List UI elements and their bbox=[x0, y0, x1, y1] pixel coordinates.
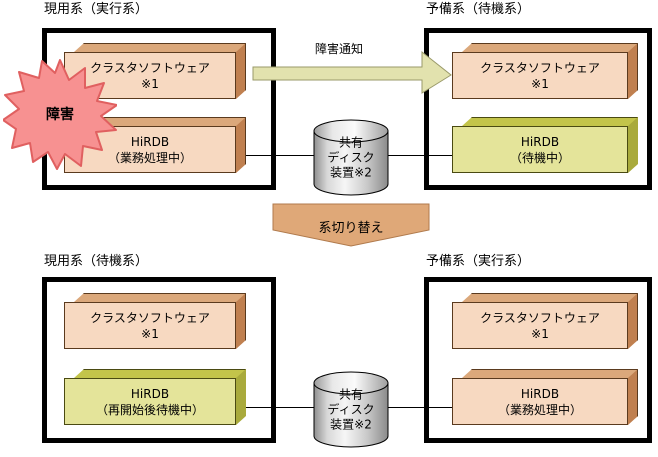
box-top-face bbox=[462, 43, 638, 52]
box-side-face bbox=[236, 369, 246, 425]
top-right-cluster-software-box: クラスタソフトウェア ※1 bbox=[452, 43, 638, 99]
box-label-line1: HiRDB bbox=[131, 134, 169, 150]
box-top-face bbox=[74, 369, 246, 378]
bottom-left-disk-connector bbox=[246, 407, 314, 408]
disk-cylinder-icon bbox=[313, 371, 389, 448]
box-side-face bbox=[236, 293, 246, 349]
box-label-line2: ※1 bbox=[141, 76, 159, 92]
box-label-line1: HiRDB bbox=[521, 386, 559, 402]
failover-diagram: 現用系（実行系） クラスタソフトウェア ※1 HiRDB （業務処理中） 予備系… bbox=[0, 0, 658, 457]
arrow-right-icon bbox=[252, 50, 452, 94]
box-side-face bbox=[236, 117, 246, 173]
top-right-disk-connector bbox=[388, 155, 452, 156]
failure-label: 障害 bbox=[3, 104, 117, 124]
box-front-face: HiRDB （業務処理中） bbox=[452, 378, 628, 425]
box-front-face: クラスタソフトウェア ※1 bbox=[452, 52, 628, 99]
box-label-line2: ※1 bbox=[531, 76, 549, 92]
switch-over-arrow: 系切り替え bbox=[272, 203, 430, 247]
bottom-right-system-label: 予備系（実行系） bbox=[426, 255, 530, 269]
box-side-face bbox=[628, 117, 638, 173]
box-front-face: HiRDB （待機中） bbox=[452, 126, 628, 173]
failure-starburst: 障害 bbox=[3, 58, 117, 170]
bottom-left-hirdb-box: HiRDB （再開始後待機中） bbox=[64, 369, 246, 425]
box-side-face bbox=[628, 43, 638, 99]
box-top-face bbox=[74, 293, 246, 302]
switch-over-label: 系切り替え bbox=[272, 217, 430, 236]
box-side-face bbox=[628, 369, 638, 425]
bottom-right-cluster-software-box: クラスタソフトウェア ※1 bbox=[452, 293, 638, 349]
box-top-face bbox=[462, 293, 638, 302]
bottom-right-hirdb-box: HiRDB （業務処理中） bbox=[452, 369, 638, 425]
box-front-face: クラスタソフトウェア ※1 bbox=[452, 302, 628, 349]
box-label-line1: クラスタソフトウェア bbox=[90, 310, 210, 326]
box-front-face: HiRDB （再開始後待機中） bbox=[64, 378, 236, 425]
bottom-left-cluster-software-box: クラスタソフトウェア ※1 bbox=[64, 293, 246, 349]
top-left-disk-connector bbox=[246, 155, 314, 156]
notify-arrow bbox=[252, 50, 452, 94]
top-right-system-label: 予備系（待機系） bbox=[426, 3, 530, 17]
box-label-line1: HiRDB bbox=[521, 134, 559, 150]
box-label-line2: （待機中） bbox=[510, 150, 570, 166]
box-label-line1: クラスタソフトウェア bbox=[480, 60, 600, 76]
box-top-face bbox=[74, 43, 246, 52]
top-left-system-label: 現用系（実行系） bbox=[44, 3, 148, 17]
box-front-face: クラスタソフトウェア ※1 bbox=[64, 302, 236, 349]
box-side-face bbox=[236, 43, 246, 99]
box-label-line1: クラスタソフトウェア bbox=[480, 310, 600, 326]
box-side-face bbox=[628, 293, 638, 349]
disk-cylinder-icon bbox=[313, 119, 389, 196]
bottom-shared-disk: 共有 ディスク 装置※2 bbox=[313, 371, 389, 448]
bottom-left-system-label: 現用系（待機系） bbox=[44, 255, 148, 269]
top-shared-disk: 共有 ディスク 装置※2 bbox=[313, 119, 389, 196]
box-top-face bbox=[462, 117, 638, 126]
box-label-line2: （業務処理中） bbox=[108, 150, 192, 166]
box-label-line2: ※1 bbox=[141, 326, 159, 342]
top-right-hirdb-box: HiRDB （待機中） bbox=[452, 117, 638, 173]
box-top-face bbox=[462, 369, 638, 378]
box-label-line2: （再開始後待機中） bbox=[96, 402, 204, 418]
box-label-line2: （業務処理中） bbox=[498, 402, 582, 418]
box-label-line1: HiRDB bbox=[131, 386, 169, 402]
box-label-line2: ※1 bbox=[531, 326, 549, 342]
bottom-right-disk-connector bbox=[388, 407, 452, 408]
